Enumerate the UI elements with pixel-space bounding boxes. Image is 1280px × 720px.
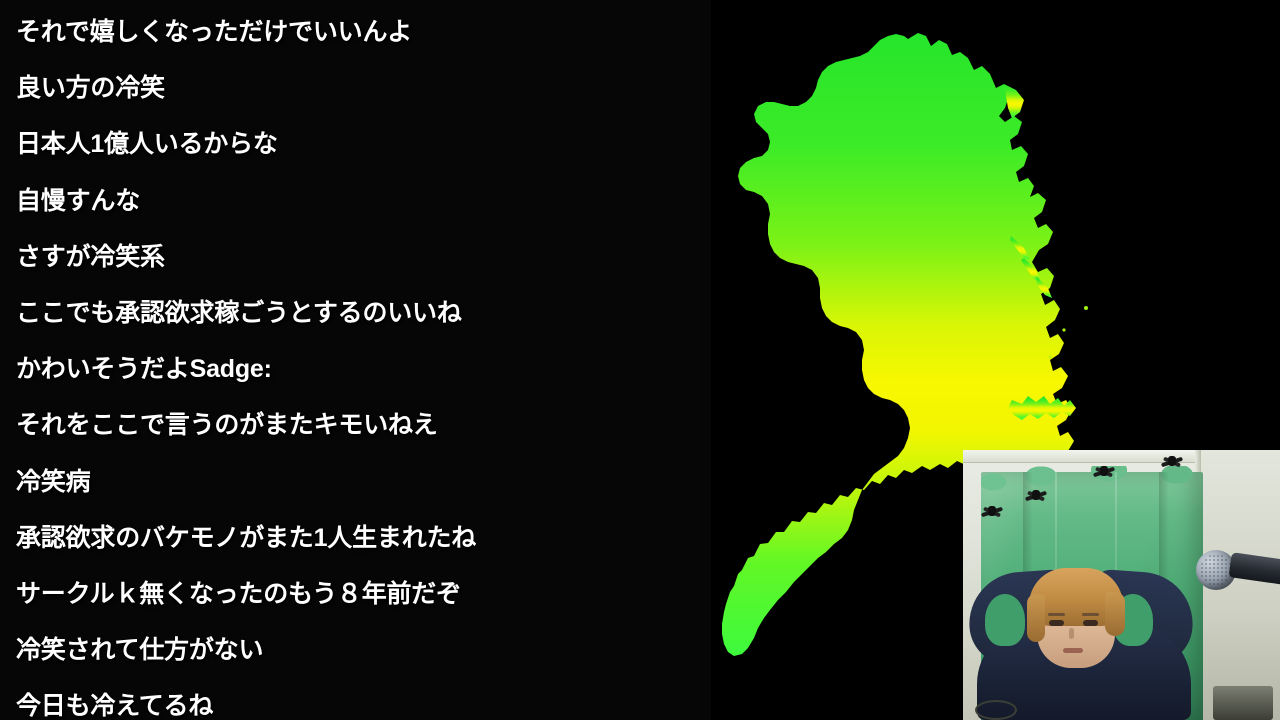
chat-message: 自慢すんな (16, 173, 706, 229)
clamp-icon (1161, 452, 1183, 472)
chat-message: それをここで言うのがまたキモいねえ (16, 397, 706, 453)
chat-message: 冷笑病 (16, 454, 706, 510)
chat-message: それで嬉しくなっただけでいいんよ (16, 4, 706, 60)
nose (1069, 628, 1074, 639)
streamer-webcam-overlay[interactable] (963, 450, 1280, 720)
map-island-c (1049, 356, 1052, 359)
chat-message: ここでも承認欲求稼ごうとするのいいね (16, 285, 706, 341)
map-coast-detail-north (1004, 84, 1024, 118)
eyebrow-left (1048, 613, 1065, 616)
map-island-a (1084, 306, 1088, 310)
chat-message: 今日も冷えてるね (16, 678, 706, 720)
chat-message: さすが冷笑系 (16, 229, 706, 285)
chat-message: 冷笑されて仕方がない (16, 622, 706, 678)
eye-left (1049, 620, 1064, 626)
clamp-icon (981, 502, 1003, 522)
microphone (1196, 544, 1280, 600)
microphone-stand-base (975, 700, 1017, 720)
hair-side-right (1105, 592, 1125, 636)
chat-message: 日本人1億人いるからな (16, 116, 706, 172)
eyebrow-right (1082, 613, 1099, 616)
chat-message: 良い方の冷笑 (16, 60, 706, 116)
clamp-icon (1093, 462, 1115, 482)
live-chat-panel[interactable]: それで嬉しくなっただけでいいんよ 良い方の冷笑 日本人1億人いるからな 自慢すん… (0, 0, 711, 720)
map-island-b (1062, 328, 1065, 331)
chat-message-list[interactable]: それで嬉しくなっただけでいいんよ 良い方の冷笑 日本人1億人いるからな 自慢すん… (16, 0, 706, 720)
streamer-figure (963, 568, 1208, 720)
clamp-icon (1025, 486, 1047, 506)
hair-side-left (1027, 594, 1045, 642)
chat-message: 承認欲求のバケモノがまた1人生まれたね (16, 510, 706, 566)
mouth (1063, 648, 1083, 653)
eye-right (1083, 620, 1098, 626)
microphone-body (1229, 552, 1280, 585)
room-clutter (1213, 686, 1273, 720)
arm-gap-left (985, 594, 1025, 646)
stream-canvas: それで嬉しくなっただけでいいんよ 良い方の冷笑 日本人1億人いるからな 自慢すん… (0, 0, 1280, 720)
chat-message: かわいそうだよSadge: (16, 341, 706, 397)
chat-message: サークルｋ無くなったのもう８年前だぞ (16, 566, 706, 622)
